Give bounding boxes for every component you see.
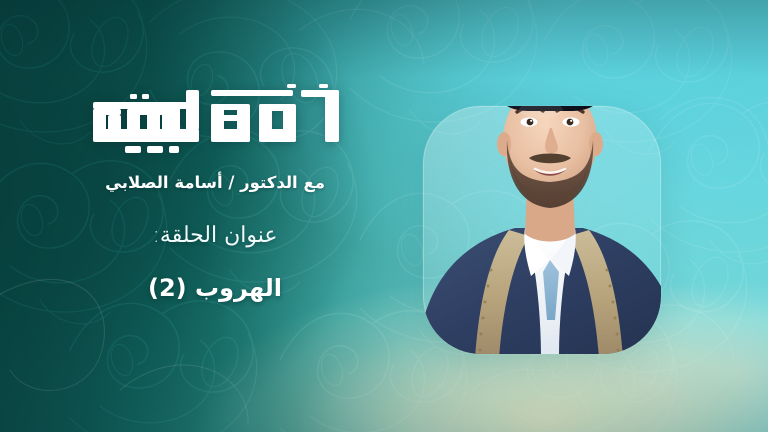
program-logo xyxy=(87,84,343,162)
title-card-canvas: مع الدكتور / أسامة الصلابي عنوان الحلقة:… xyxy=(0,0,768,432)
host-portrait-photo xyxy=(413,28,685,358)
episode-title: الهروب (2) xyxy=(148,274,282,302)
episode-label: عنوان الحلقة: xyxy=(152,223,277,248)
title-content-column: مع الدكتور / أسامة الصلابي عنوان الحلقة:… xyxy=(0,0,430,432)
host-portrait xyxy=(405,28,705,358)
host-name-line: مع الدكتور / أسامة الصلابي xyxy=(105,173,325,192)
